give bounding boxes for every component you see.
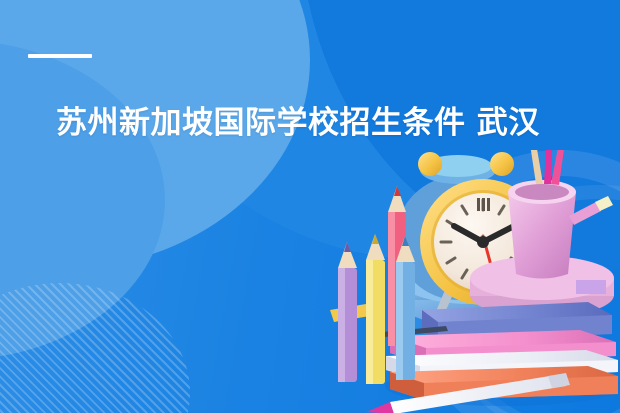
school-supplies-illustration	[330, 150, 620, 413]
cup-pencil-pink	[551, 150, 565, 185]
white-divider-rule	[28, 54, 92, 58]
cup-brush	[569, 196, 613, 225]
cup-pencil-tan	[530, 150, 543, 184]
pencil-yellow	[366, 234, 385, 384]
pencil-blue	[396, 236, 415, 380]
pencil-purple	[338, 242, 357, 382]
cup-pencil-magenta	[544, 150, 552, 184]
colored-pencils	[330, 186, 415, 384]
page-title: 苏州新加坡国际学校招生条件 武汉	[56, 104, 576, 143]
banner-canvas: 苏州新加坡国际学校招生条件 武汉	[0, 0, 620, 413]
